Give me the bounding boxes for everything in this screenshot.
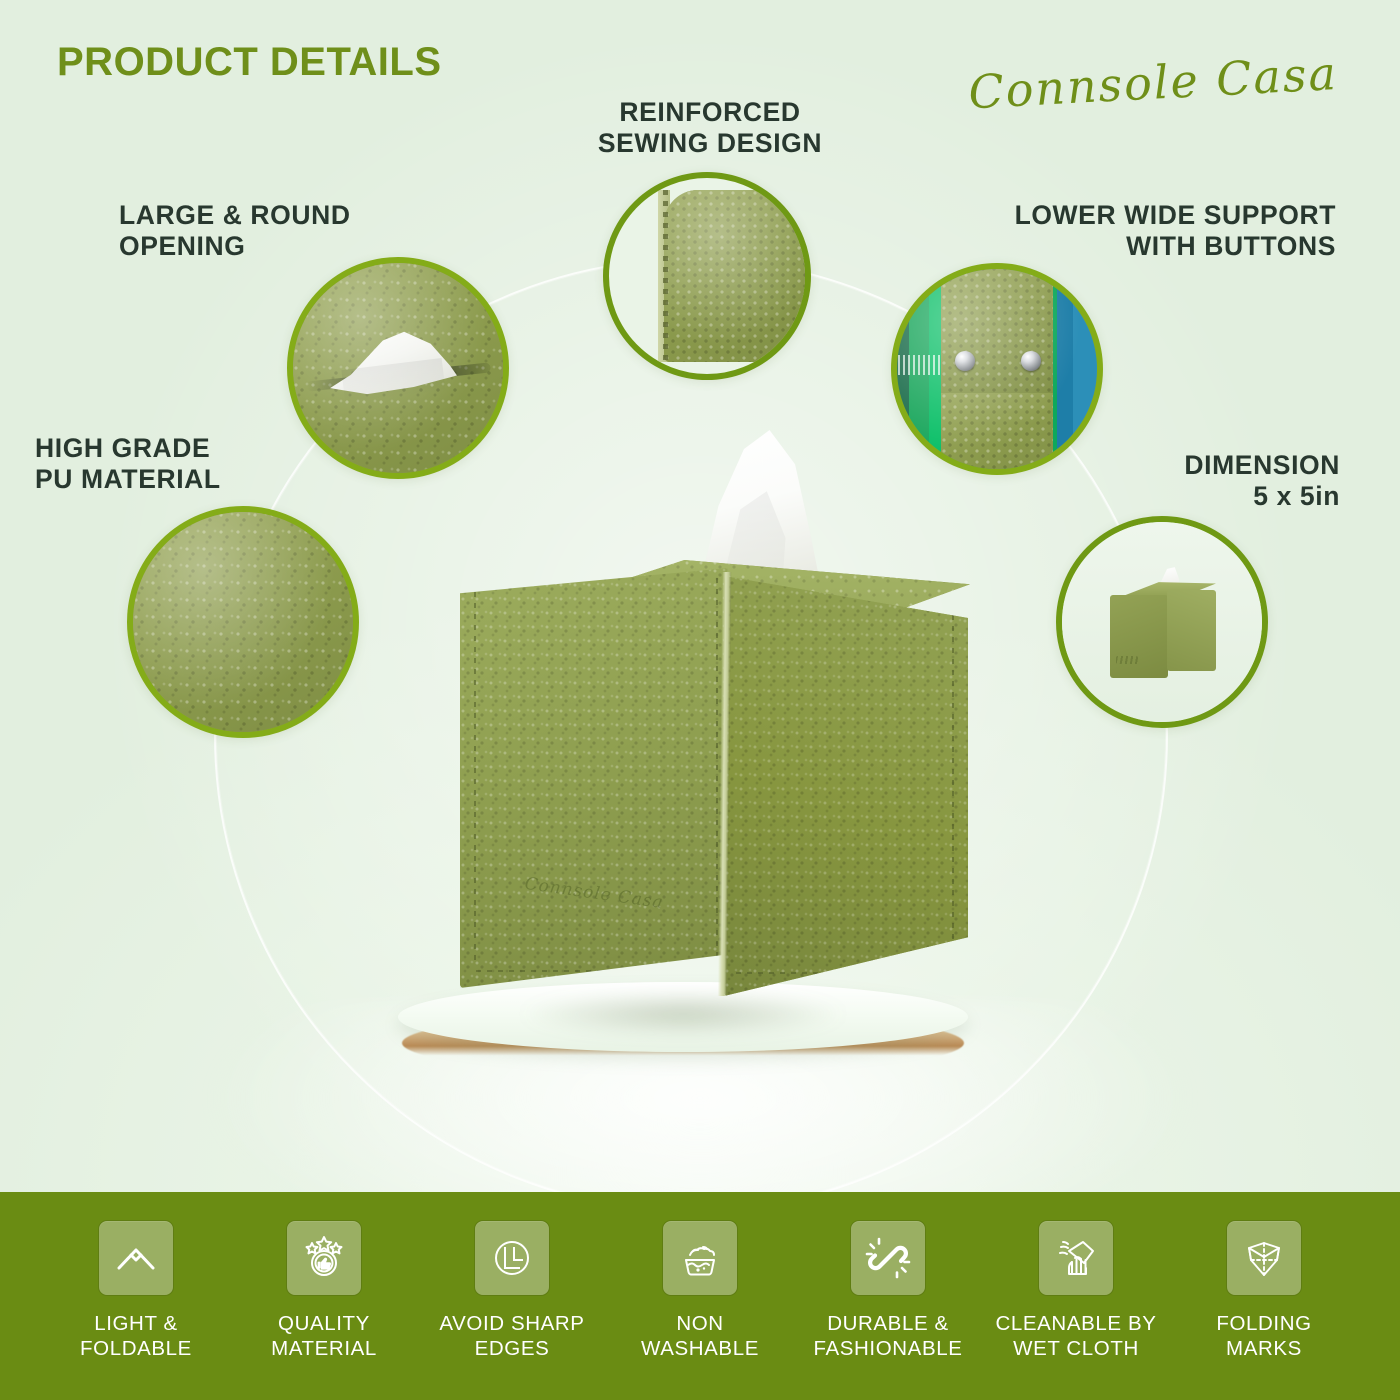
highlight-sheen xyxy=(664,190,811,362)
foldable-icon xyxy=(98,1220,174,1296)
quality-thumbsup-icon xyxy=(286,1220,362,1296)
stitch-line-right xyxy=(952,604,954,964)
infographic-canvas: PRODUCT DETAILS Connsole Casa LARGE & RO… xyxy=(0,0,1400,1400)
benefit-label: LIGHT & FOLDABLE xyxy=(80,1311,192,1361)
stitch-line xyxy=(663,190,668,362)
feature-label-large-round-opening: LARGE & ROUND OPENING xyxy=(119,200,351,261)
leather-texture xyxy=(724,576,968,996)
benefit-quality-material: QUALITY MATERIAL xyxy=(238,1192,410,1361)
stitch-line-right xyxy=(716,578,718,964)
benefit-cleanable-wet-cloth: CLEANABLE BY WET CLOTH xyxy=(990,1192,1162,1361)
feature-label-lower-wide-support: LOWER WIDE SUPPORT WITH BUTTONS xyxy=(944,200,1336,261)
benefits-row: LIGHT & FOLDABLE QUALITY MATERIAL xyxy=(0,1192,1400,1400)
stitch-line-left xyxy=(474,592,476,960)
benefit-durable-fashionable: DURABLE & FASHIONABLE xyxy=(802,1192,974,1361)
detail-bubble-dimension xyxy=(1056,516,1268,728)
non-washable-icon xyxy=(662,1220,738,1296)
mini-tissue-box xyxy=(1110,590,1216,678)
benefit-folding-marks: FOLDING MARKS xyxy=(1178,1192,1350,1361)
page-title: PRODUCT DETAILS xyxy=(57,40,442,85)
benefit-label: NON WASHABLE xyxy=(641,1311,759,1361)
mini-box-side xyxy=(1167,590,1216,671)
mini-box-front xyxy=(1110,595,1168,678)
hero-product-image: Connsole Casa xyxy=(452,430,972,1030)
benefit-label: FOLDING MARKS xyxy=(1178,1311,1350,1361)
benefit-label: AVOID SHARP EDGES xyxy=(439,1311,584,1361)
benefits-bar: LIGHT & FOLDABLE QUALITY MATERIAL xyxy=(0,1192,1400,1400)
stitch-line-bottom xyxy=(476,970,714,972)
mini-box-logo xyxy=(1116,656,1138,663)
highlight-sheen xyxy=(133,512,353,732)
feature-label-reinforced-sewing: REINFORCED SEWING DESIGN xyxy=(530,97,890,158)
durable-link-icon xyxy=(850,1220,926,1296)
benefit-light-foldable: LIGHT & FOLDABLE xyxy=(50,1192,222,1361)
stitch-line-bottom xyxy=(736,972,946,974)
detail-bubble-reinforced-sewing xyxy=(603,172,811,380)
benefit-label: DURABLE & FASHIONABLE xyxy=(813,1311,962,1361)
leather-texture xyxy=(460,568,728,988)
wet-cloth-clean-icon xyxy=(1038,1220,1114,1296)
stitched-corner xyxy=(664,190,811,362)
feature-label-high-grade-pu: HIGH GRADE PU MATERIAL xyxy=(35,433,221,494)
avoid-sharp-edges-icon xyxy=(474,1220,550,1296)
hero-box-left-face xyxy=(460,568,728,988)
benefit-non-washable: NON WASHABLE xyxy=(614,1192,786,1361)
folding-marks-icon xyxy=(1226,1220,1302,1296)
hero-box-right-face xyxy=(724,576,968,996)
benefit-label: CLEANABLE BY WET CLOTH xyxy=(995,1311,1156,1361)
benefit-label: QUALITY MATERIAL xyxy=(271,1311,377,1361)
detail-bubble-high-grade-pu xyxy=(127,506,359,738)
benefit-avoid-sharp-edges: AVOID SHARP EDGES xyxy=(426,1192,598,1361)
